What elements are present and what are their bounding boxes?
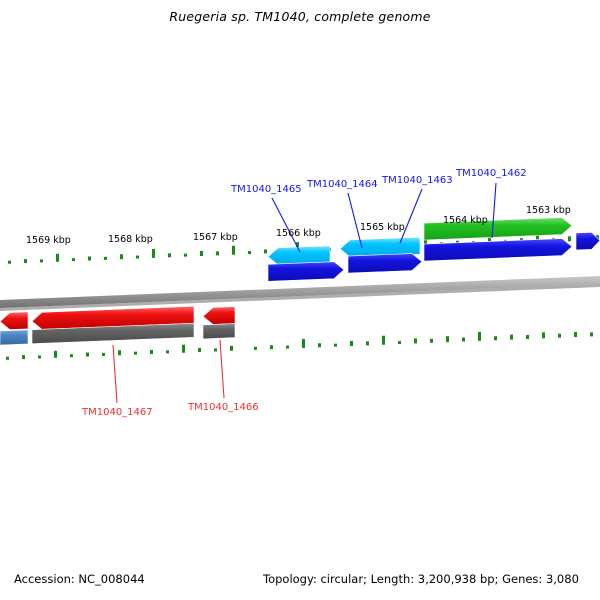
gc-skew-tick xyxy=(8,261,11,264)
axis-tick-label: 1564 kbp xyxy=(443,215,488,226)
gene-label-leader-line xyxy=(113,345,117,403)
gene-label-leader-line xyxy=(400,189,422,243)
gc-skew-tick xyxy=(24,259,27,263)
gc-skew-tick xyxy=(590,332,593,336)
axis-tick-label: 1563 kbp xyxy=(526,205,571,216)
gc-skew-tick xyxy=(334,344,337,347)
accession-text: Accession: NC_008044 xyxy=(14,572,145,586)
gene-feature-gray[interactable] xyxy=(203,324,235,339)
reverse-label-leaders xyxy=(113,340,224,403)
gc-skew-tick xyxy=(558,334,561,338)
gene-label-reverse[interactable]: TM1040_1466 xyxy=(187,402,259,413)
gc-skew-tick xyxy=(270,345,273,349)
gc-skew-tick xyxy=(38,355,41,358)
genome-stats-text: Topology: circular; Length: 3,200,938 bp… xyxy=(263,572,579,586)
axis-tick-label: 1568 kbp xyxy=(108,234,153,245)
axis-tick-label: 1567 kbp xyxy=(193,232,238,243)
gc-skew-tick xyxy=(200,251,203,256)
gc-skew-tick xyxy=(366,341,369,345)
gc-skew-tick xyxy=(230,346,233,351)
axis-tick-label: 1565 kbp xyxy=(360,222,405,233)
gene-label-forward[interactable]: TM1040_1464 xyxy=(306,179,378,190)
gc-skew-left-lower-track xyxy=(6,345,233,360)
gene-feature-blue[interactable] xyxy=(268,262,344,282)
gc-skew-tick xyxy=(254,347,257,350)
gc-skew-tick xyxy=(120,254,123,259)
gc-skew-tick xyxy=(462,338,465,342)
gc-skew-tick xyxy=(350,341,353,346)
gc-skew-tick xyxy=(184,254,187,257)
gene-label-forward[interactable]: TM1040_1463 xyxy=(381,175,453,186)
gene-feature-blue[interactable] xyxy=(424,239,572,262)
gc-skew-tick xyxy=(198,348,201,352)
gene-feature-red[interactable] xyxy=(203,307,235,325)
gc-skew-tick xyxy=(286,346,289,349)
gc-skew-tick xyxy=(86,353,89,357)
gc-skew-tick xyxy=(88,256,91,260)
gene-feature-red[interactable] xyxy=(0,312,28,330)
forward-gene-labels[interactable]: TM1040_1465TM1040_1464TM1040_1463TM1040_… xyxy=(230,168,527,195)
gene-label-reverse[interactable]: TM1040_1467 xyxy=(81,407,153,418)
gc-skew-tick xyxy=(56,254,59,262)
gc-skew-tick xyxy=(118,350,121,355)
gene-label-leader-line xyxy=(272,198,300,252)
gc-skew-tick xyxy=(70,354,73,357)
page-title: Ruegeria sp. TM1040, complete genome xyxy=(0,9,600,24)
gc-skew-tick xyxy=(398,341,401,344)
gc-skew-tick xyxy=(248,251,251,254)
gc-skew-tick xyxy=(168,253,171,257)
gc-skew-tick xyxy=(150,350,153,354)
gc-skew-tick xyxy=(382,336,385,345)
gc-skew-tick xyxy=(40,259,43,262)
gc-skew-tick xyxy=(430,339,433,343)
reverse-steelblue-features[interactable] xyxy=(0,330,28,345)
gc-skew-tick xyxy=(510,335,513,340)
gc-skew-tick xyxy=(182,345,185,353)
axis-tick-label: 1569 kbp xyxy=(26,235,71,246)
reverse-gene-labels[interactable]: TM1040_1467TM1040_1466 xyxy=(81,402,259,418)
gc-skew-tick xyxy=(414,338,417,343)
gc-skew-tick xyxy=(574,332,577,337)
gc-skew-tick xyxy=(568,236,571,241)
gc-skew-lower-track xyxy=(254,332,593,350)
gc-skew-tick xyxy=(214,348,217,351)
gc-skew-tick xyxy=(542,332,545,338)
gc-skew-tick xyxy=(494,336,497,340)
genome-viewer: Ruegeria sp. TM1040, complete genome xyxy=(0,0,600,600)
axis-tick-label: 1566 kbp xyxy=(276,228,321,239)
gc-skew-tick xyxy=(526,335,529,339)
genome-map-canvas[interactable]: TM1040_1465TM1040_1464TM1040_1463TM1040_… xyxy=(0,0,600,600)
gc-skew-tick xyxy=(216,251,219,255)
gc-skew-tick xyxy=(6,357,9,360)
gene-feature-blue[interactable] xyxy=(348,254,422,274)
gc-skew-tick xyxy=(134,352,137,355)
gc-skew-tick xyxy=(152,249,155,258)
gene-label-forward[interactable]: TM1040_1462 xyxy=(455,168,527,179)
genome-backbone[interactable] xyxy=(0,276,600,311)
gene-feature-steelblue[interactable] xyxy=(0,330,28,345)
gc-skew-tick xyxy=(446,336,449,342)
gene-label-leader-line xyxy=(220,340,224,398)
gc-skew-tick xyxy=(104,257,107,260)
gc-skew-tick xyxy=(232,246,235,255)
gc-skew-tick xyxy=(302,339,305,348)
gene-feature-blue[interactable] xyxy=(576,232,600,250)
gc-skew-tick xyxy=(478,332,481,341)
gc-skew-tick xyxy=(166,350,169,353)
gc-skew-tick xyxy=(22,355,25,359)
gc-skew-tick xyxy=(264,249,267,253)
gc-skew-tick xyxy=(72,258,75,261)
gc-skew-tick xyxy=(54,351,57,358)
gc-skew-tick xyxy=(318,343,321,347)
gc-skew-tick xyxy=(102,353,105,356)
gene-label-forward[interactable]: TM1040_1465 xyxy=(230,184,302,195)
gc-skew-tick xyxy=(136,256,139,259)
